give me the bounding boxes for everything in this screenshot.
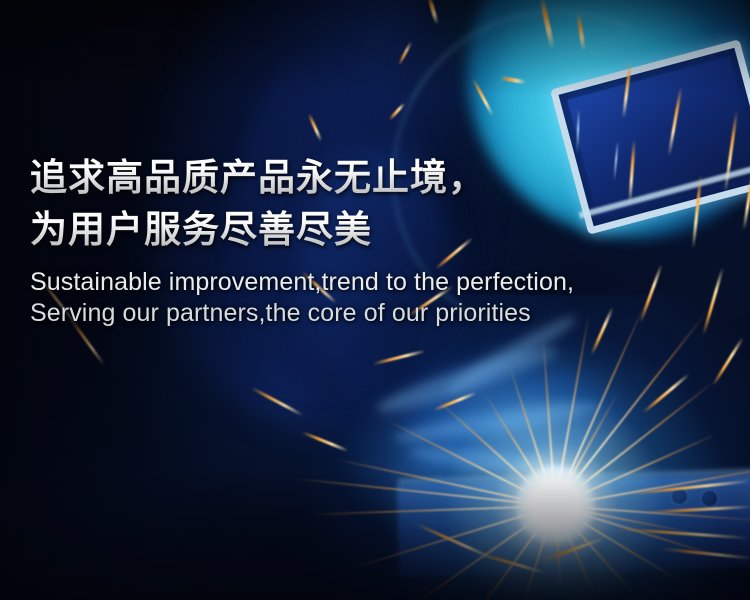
slogan-english-line-2: Serving our partners,the core of our pri… (30, 298, 750, 329)
slogan-chinese-line-2: 为用户服务尽善尽美 (30, 204, 750, 256)
slogan-english-line-1: Sustainable improvement,trend to the per… (30, 267, 750, 298)
slogan-english-block: Sustainable improvement,trend to the per… (30, 267, 750, 329)
slogan-overlay: 追求高品质产品永无止境， 为用户服务尽善尽美 Sustainable impro… (0, 0, 750, 600)
welding-hero-banner: 追求高品质产品永无止境， 为用户服务尽善尽美 Sustainable impro… (0, 0, 750, 600)
slogan-chinese-line-1: 追求高品质产品永无止境， (30, 152, 750, 204)
